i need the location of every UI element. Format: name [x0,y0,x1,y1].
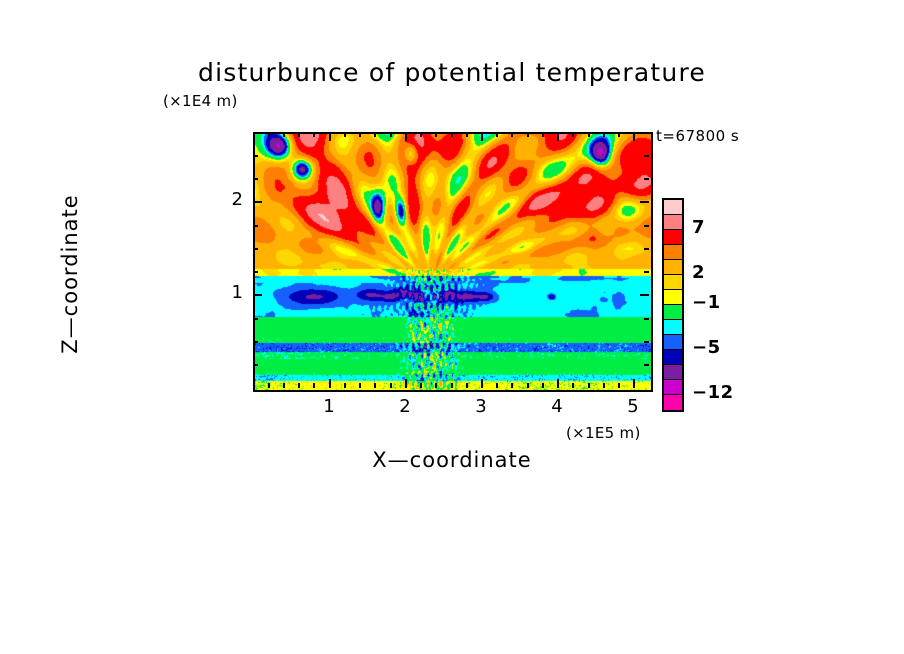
page-title: disturbunce of potential temperature [0,58,904,87]
colorbar-band [664,230,682,245]
z-axis-unit-label: (×1E4 m) [163,92,238,110]
colorbar-tick-label: −12 [692,382,734,403]
colorbar-band [664,275,682,290]
x-axis-unit-label: (×1E5 m) [566,424,641,442]
colorbar-tick-label: 2 [692,262,705,283]
colorbar-band [664,365,682,380]
contour-plot-area [253,132,653,392]
y-tick-label: 2 [213,189,243,210]
colorbar-band [664,305,682,320]
x-tick-label: 3 [466,396,496,417]
colorbar-band [664,350,682,365]
colorbar-tick-label: −1 [692,292,721,313]
y-tick-label: 1 [213,282,243,303]
colorbar-band [664,335,682,350]
x-tick-label: 2 [390,396,420,417]
contour-field-canvas [255,134,651,390]
time-annotation: t=67800 s [656,127,739,145]
colorbar: 72−1−5−12 [659,166,759,392]
colorbar-band [664,320,682,335]
x-tick-label: 1 [314,396,344,417]
x-axis-title: X—coordinate [0,448,904,472]
x-tick-label: 5 [618,396,648,417]
colorbar-band [664,215,682,230]
colorbar-bands [662,198,684,412]
colorbar-band [664,380,682,395]
colorbar-tick-label: 7 [692,217,705,238]
colorbar-band [664,260,682,275]
colorbar-band [664,245,682,260]
colorbar-band [664,290,682,305]
x-tick-label: 4 [542,396,572,417]
colorbar-tick-label: −5 [692,337,721,358]
colorbar-band [664,200,682,215]
y-axis-title: Z—coordinate [58,144,82,404]
colorbar-band [664,395,682,410]
